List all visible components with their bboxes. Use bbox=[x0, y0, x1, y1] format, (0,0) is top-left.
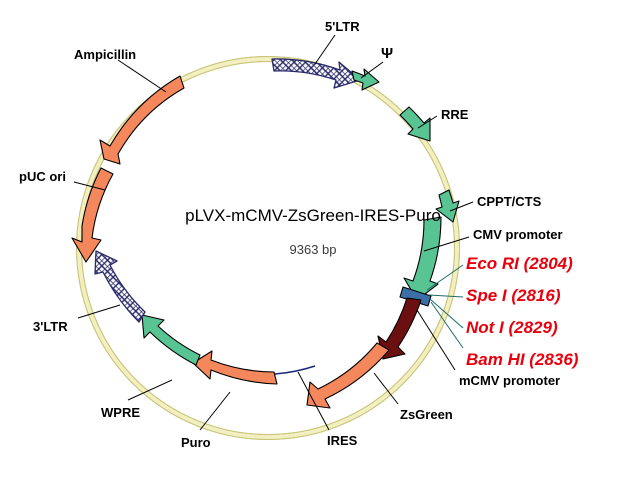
feature-ampicillin[interactable] bbox=[100, 76, 184, 164]
label-wpre[interactable]: WPRE bbox=[101, 406, 140, 419]
page-title: pLVX-mCMV-ZsGreen-IRES-Puro bbox=[0, 206, 626, 226]
label-site-bamhi[interactable]: Bam HI (2836) bbox=[466, 351, 578, 368]
leader-ampicillin bbox=[118, 60, 166, 92]
feature-psi[interactable] bbox=[352, 69, 379, 90]
feature-puro[interactable] bbox=[193, 351, 277, 384]
label-five-ltr[interactable]: 5'LTR bbox=[325, 20, 360, 33]
feature-zsgreen[interactable] bbox=[307, 343, 389, 408]
label-site-ecori[interactable]: Eco RI (2804) bbox=[466, 255, 573, 272]
label-cppt-cts[interactable]: CPPT/CTS bbox=[477, 195, 541, 208]
label-rre[interactable]: RRE bbox=[441, 108, 468, 121]
label-site-spei[interactable]: Spe I (2816) bbox=[466, 287, 561, 304]
label-puc-ori[interactable]: pUC ori bbox=[19, 170, 66, 183]
label-zsgreen[interactable]: ZsGreen bbox=[400, 408, 453, 421]
label-ires[interactable]: IRES bbox=[327, 434, 357, 447]
feature-cmv-promoter[interactable] bbox=[404, 217, 441, 300]
label-ampicillin[interactable]: Ampicillin bbox=[74, 48, 136, 61]
leader-puro bbox=[200, 392, 230, 430]
leader-three-ltr bbox=[78, 305, 120, 318]
label-psi[interactable]: Ψ bbox=[381, 46, 393, 61]
leader-five-ltr bbox=[315, 35, 335, 64]
label-puro[interactable]: Puro bbox=[181, 436, 211, 449]
plasmid-map: pLVX-mCMV-ZsGreen-IRES-Puro 9363 bp Ampi… bbox=[0, 0, 626, 491]
label-mcmv-promoter[interactable]: mCMV promoter bbox=[459, 374, 560, 387]
feature-ires[interactable] bbox=[275, 366, 315, 374]
label-site-noti[interactable]: Not I (2829) bbox=[466, 319, 558, 336]
feature-rre[interactable] bbox=[400, 107, 430, 141]
feature-three-ltr[interactable] bbox=[95, 251, 145, 322]
leader-spei bbox=[429, 295, 463, 297]
label-cmv-promoter[interactable]: CMV promoter bbox=[473, 228, 563, 241]
feature-wpre[interactable] bbox=[142, 315, 200, 365]
label-three-ltr[interactable]: 3'LTR bbox=[33, 320, 68, 333]
